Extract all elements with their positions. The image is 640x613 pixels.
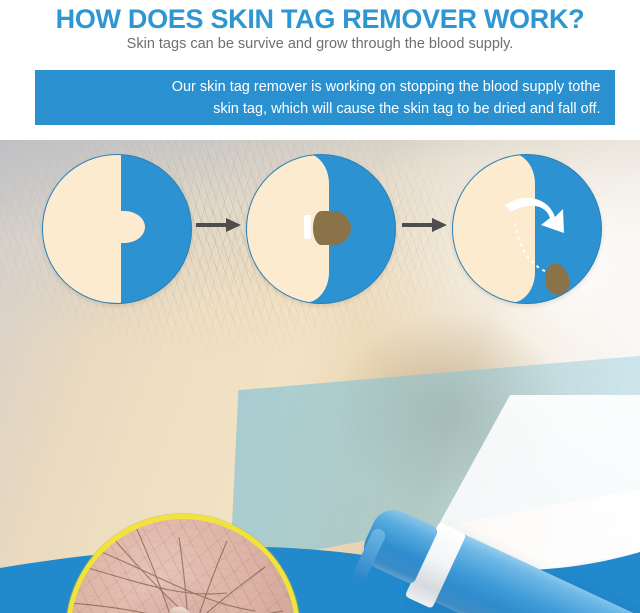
step-2-blood-gap (304, 215, 311, 239)
step-2-dried-skin-tag (313, 211, 351, 245)
diagram-step-1 (42, 154, 192, 304)
magnifier-circle (66, 514, 300, 613)
arrow-right-icon-1 (196, 217, 242, 233)
magnified-hairs (66, 514, 300, 613)
callout-banner: Our skin tag remover is working on stopp… (35, 70, 615, 125)
arrow-right-icon-2 (402, 217, 448, 233)
page-title: HOW DOES SKIN TAG REMOVER WORK? (0, 4, 640, 35)
infographic-page: HOW DOES SKIN TAG REMOVER WORK? Skin tag… (0, 0, 640, 613)
page-subtitle: Skin tags can be survive and grow throug… (0, 36, 640, 52)
step-1-skin-tag (105, 211, 145, 243)
callout-line-1: Our skin tag remover is working on stopp… (172, 79, 601, 95)
skin-tag-remover-device (378, 512, 640, 613)
step-3-fall-path (453, 155, 601, 303)
three-step-diagram (0, 140, 640, 305)
diagram-step-3 (452, 154, 602, 304)
callout-line-2: skin tag, which will cause the skin tag … (213, 101, 600, 117)
diagram-step-2 (246, 154, 396, 304)
header-section: HOW DOES SKIN TAG REMOVER WORK? Skin tag… (0, 0, 640, 140)
callout-text: Our skin tag remover is working on stopp… (46, 76, 605, 120)
